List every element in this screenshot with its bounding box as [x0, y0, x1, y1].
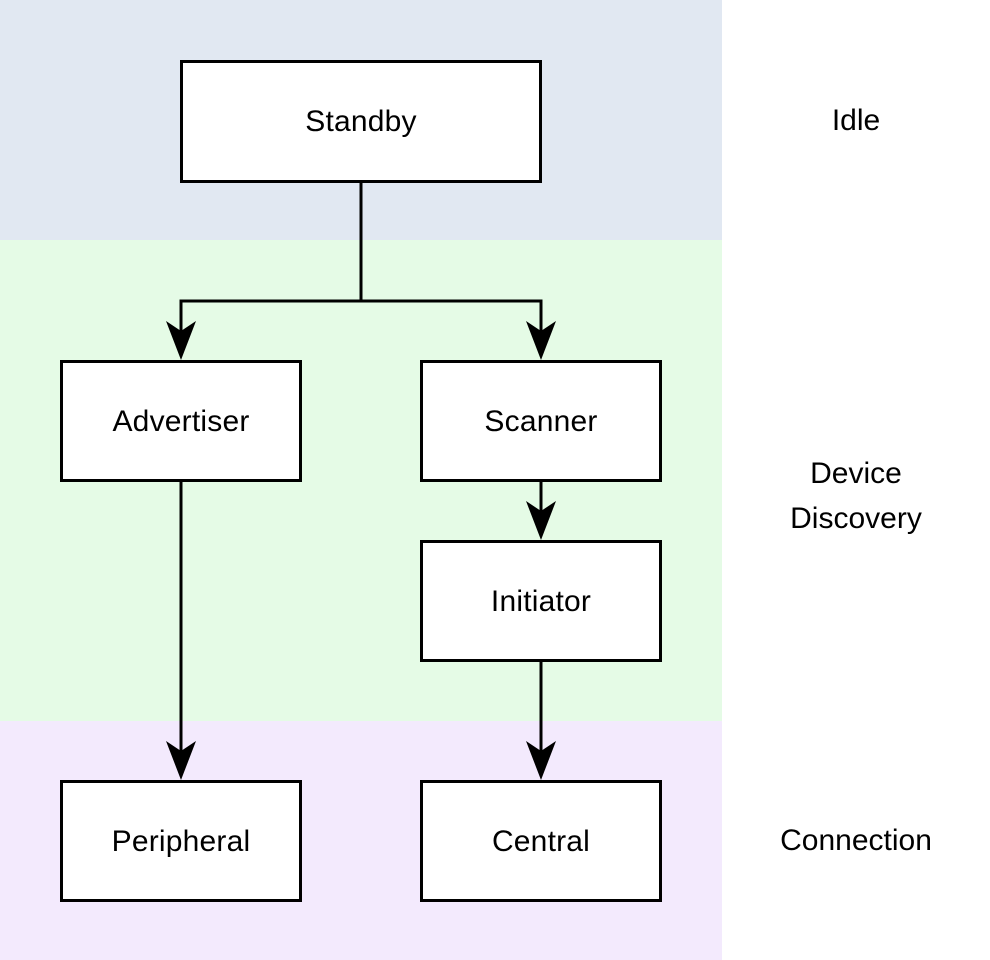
node-advertiser-label: Advertiser [112, 405, 249, 438]
node-central-label: Central [492, 825, 590, 858]
node-peripheral[interactable]: Peripheral [60, 780, 302, 902]
band-label-device-discovery: DeviceDiscovery [722, 451, 990, 541]
diagram-canvas: Standby Advertiser Scanner Initiator Per… [0, 0, 990, 960]
band-label-idle: Idle [722, 98, 990, 143]
band-label-connection: Connection [722, 818, 990, 863]
node-standby[interactable]: Standby [180, 60, 542, 183]
node-central[interactable]: Central [420, 780, 662, 902]
node-standby-label: Standby [305, 105, 416, 138]
node-scanner-label: Scanner [484, 405, 597, 438]
node-scanner[interactable]: Scanner [420, 360, 662, 482]
node-initiator-label: Initiator [491, 585, 591, 618]
band-label-device-discovery-text: DeviceDiscovery [790, 457, 922, 535]
node-peripheral-label: Peripheral [112, 825, 251, 858]
node-advertiser[interactable]: Advertiser [60, 360, 302, 482]
node-initiator[interactable]: Initiator [420, 540, 662, 662]
